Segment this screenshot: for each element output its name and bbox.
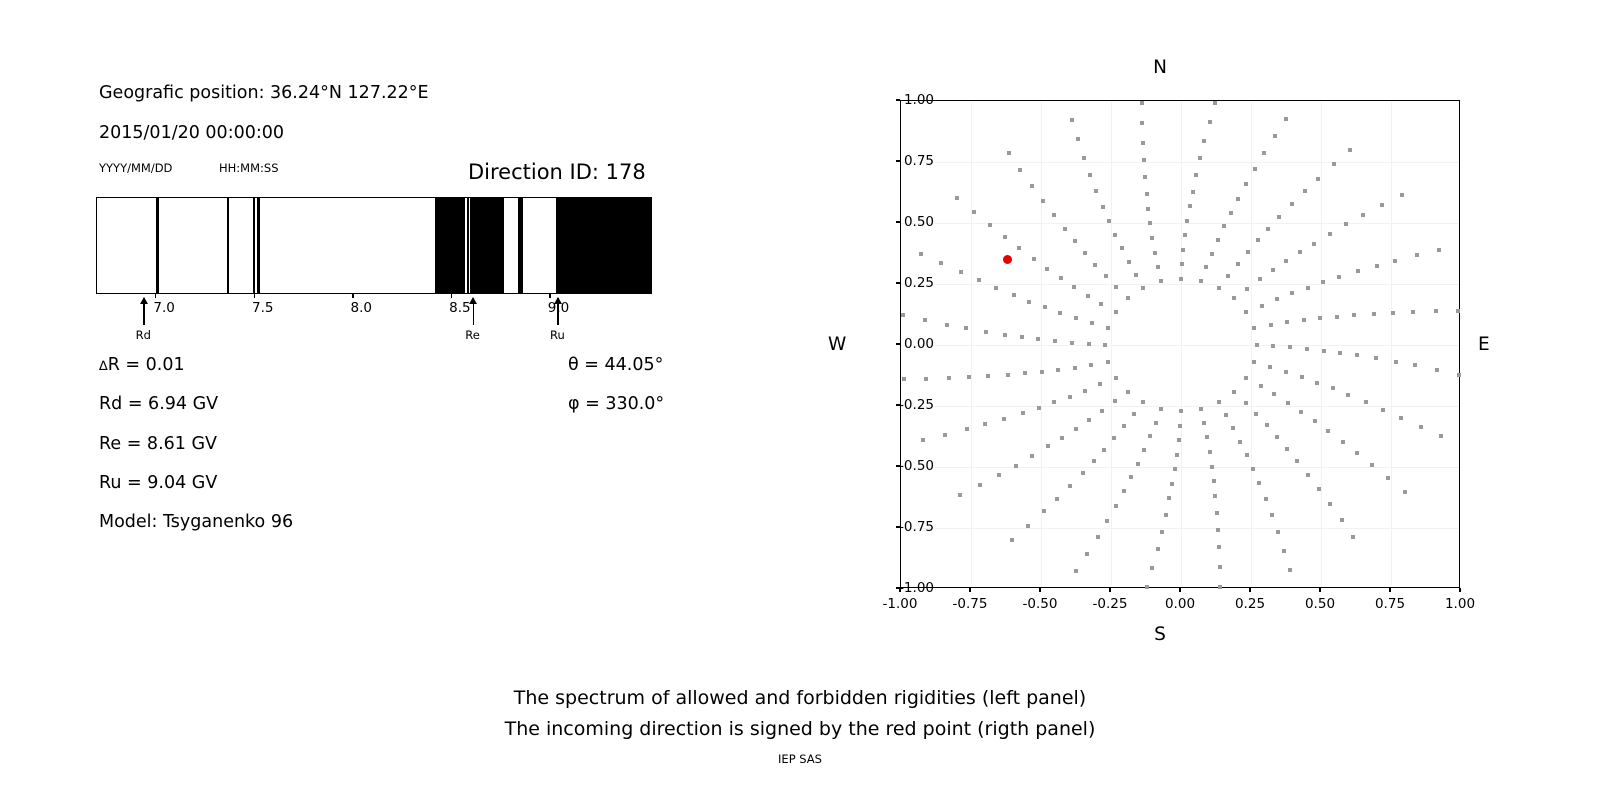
scatter-point bbox=[994, 286, 998, 290]
scatter-point bbox=[1141, 286, 1145, 290]
scatter-point bbox=[1170, 482, 1174, 486]
scatter-point bbox=[1160, 530, 1164, 534]
scatter-point bbox=[967, 375, 971, 379]
scatter-point bbox=[1036, 337, 1040, 341]
scatter-point bbox=[983, 422, 987, 426]
scatter-point bbox=[1053, 339, 1057, 343]
scatter-point bbox=[1100, 409, 1104, 413]
scatter-point bbox=[1185, 219, 1189, 223]
scatter-point bbox=[1213, 101, 1217, 105]
scatter-point bbox=[1299, 410, 1303, 414]
scatter-point bbox=[1112, 436, 1116, 440]
x-tick bbox=[1459, 588, 1460, 592]
scatter-point bbox=[1215, 511, 1219, 515]
scatter-point bbox=[1282, 549, 1286, 553]
scatter-point bbox=[1244, 401, 1248, 405]
param-ru: Ru = 9.04 GV bbox=[99, 473, 217, 493]
scatter-point bbox=[1132, 412, 1136, 416]
rigidity-tick bbox=[352, 294, 353, 298]
scatter-point bbox=[1153, 251, 1157, 255]
scatter-point bbox=[1415, 253, 1419, 257]
rigidity-marker-label: Ru bbox=[550, 328, 565, 342]
scatter-point bbox=[1374, 356, 1378, 360]
compass-north-label: N bbox=[1153, 57, 1167, 78]
scatter-point bbox=[1150, 236, 1154, 240]
scatter-point bbox=[1043, 305, 1047, 309]
figure-footer: IEP SAS bbox=[0, 752, 1600, 766]
left-panel: Geografic position: 36.24°N 127.22°E 201… bbox=[0, 0, 760, 660]
scatter-point bbox=[1102, 448, 1106, 452]
scatter-point bbox=[1150, 566, 1154, 570]
scatter-point bbox=[1344, 222, 1348, 226]
scatter-point bbox=[1052, 400, 1056, 404]
scatter-point bbox=[1142, 158, 1146, 162]
scatter-point bbox=[1245, 453, 1249, 457]
scatter-point bbox=[1173, 467, 1177, 471]
y-tick-label: -1.00 bbox=[899, 580, 934, 596]
forbidden-band bbox=[156, 198, 159, 293]
direction-id-label: Direction ID: 178 bbox=[468, 160, 646, 184]
scatter-point bbox=[1316, 177, 1320, 181]
scatter-point bbox=[1030, 184, 1034, 188]
scatter-point bbox=[1156, 547, 1160, 551]
scatter-point bbox=[1045, 267, 1049, 271]
scatter-point bbox=[1127, 260, 1131, 264]
scatter-point bbox=[1218, 585, 1222, 589]
time-format-hint: HH:MM:SS bbox=[219, 161, 279, 175]
scatter-point bbox=[1380, 203, 1384, 207]
scatter-point bbox=[1046, 444, 1050, 448]
scatter-point bbox=[1122, 424, 1126, 428]
y-tick-label: -0.25 bbox=[899, 397, 934, 413]
scatter-point bbox=[1271, 268, 1275, 272]
scatter-point bbox=[1256, 238, 1260, 242]
scatter-point bbox=[1167, 496, 1171, 500]
scatter-point bbox=[1285, 447, 1289, 451]
scatter-point bbox=[1056, 368, 1060, 372]
scatter-point bbox=[1205, 435, 1209, 439]
scatter-point bbox=[1284, 117, 1288, 121]
scatter-point bbox=[1259, 384, 1263, 388]
y-tick bbox=[896, 282, 900, 283]
scatter-point bbox=[901, 313, 905, 317]
scatter-point bbox=[1058, 311, 1062, 315]
rigidity-marker-label: Rd bbox=[136, 328, 151, 342]
scatter-point bbox=[1104, 274, 1108, 278]
rigidity-tick bbox=[451, 294, 452, 298]
scatter-point bbox=[977, 278, 981, 282]
scatter-point bbox=[1052, 213, 1056, 217]
y-tick-label: -0.75 bbox=[899, 519, 934, 535]
scatter-point bbox=[1199, 279, 1203, 283]
scatter-point bbox=[1216, 528, 1220, 532]
forbidden-band bbox=[556, 198, 652, 293]
y-tick-label: 0.75 bbox=[904, 153, 934, 169]
scatter-point bbox=[1252, 326, 1256, 330]
scatter-point bbox=[1400, 193, 1404, 197]
x-tick bbox=[1039, 588, 1040, 592]
scatter-point bbox=[1027, 300, 1031, 304]
date-format-hint: YYYY/MM/DD bbox=[99, 161, 172, 175]
rigidity-tick-label: 7.0 bbox=[153, 300, 174, 316]
scatter-point bbox=[1268, 365, 1272, 369]
scatter-point bbox=[959, 270, 963, 274]
scatter-point bbox=[1273, 134, 1277, 138]
y-tick bbox=[896, 99, 900, 100]
scatter-point bbox=[1208, 120, 1212, 124]
scatter-point bbox=[1326, 429, 1330, 433]
scatter-point bbox=[1372, 312, 1376, 316]
scatter-point bbox=[1399, 416, 1403, 420]
scatter-point bbox=[1181, 248, 1185, 252]
y-tick bbox=[896, 221, 900, 222]
scatter-point bbox=[1375, 264, 1379, 268]
arrow-up-icon bbox=[554, 297, 562, 304]
scatter-point bbox=[1290, 291, 1294, 295]
scatter-point bbox=[1251, 467, 1255, 471]
scatter-point bbox=[1245, 287, 1249, 291]
scatter-point bbox=[1093, 263, 1097, 267]
scatter-point bbox=[1164, 513, 1168, 517]
scatter-point bbox=[1318, 316, 1322, 320]
scatter-point bbox=[1179, 277, 1183, 281]
scatter-point bbox=[1286, 401, 1290, 405]
x-tick-label: -0.50 bbox=[1023, 596, 1058, 612]
rigidity-marker-label: Re bbox=[465, 328, 480, 342]
scatter-point bbox=[1063, 227, 1067, 231]
scatter-point bbox=[1222, 224, 1226, 228]
scatter-point bbox=[1364, 400, 1368, 404]
scatter-point bbox=[1253, 167, 1257, 171]
scatter-point bbox=[1352, 313, 1356, 317]
scatter-point bbox=[1264, 497, 1268, 501]
scatter-point bbox=[945, 323, 949, 327]
scatter-point bbox=[1114, 504, 1118, 508]
scatter-point bbox=[1010, 538, 1014, 542]
scatter-point bbox=[1302, 318, 1306, 322]
scatter-point bbox=[1356, 269, 1360, 273]
scatter-point bbox=[1391, 311, 1395, 315]
scatter-point bbox=[1012, 293, 1016, 297]
scatter-point bbox=[1413, 363, 1417, 367]
x-tick-label: 0.75 bbox=[1375, 596, 1405, 612]
scatter-point bbox=[1002, 417, 1006, 421]
scatter-point bbox=[1238, 440, 1242, 444]
scatter-point bbox=[923, 318, 927, 322]
rigidity-spectrum-bar bbox=[96, 197, 652, 294]
scatter-point bbox=[1107, 219, 1111, 223]
scatter-point bbox=[1271, 344, 1275, 348]
scatter-point bbox=[1244, 182, 1248, 186]
scatter-point bbox=[1085, 552, 1089, 556]
y-tick-label: 0.50 bbox=[904, 214, 934, 230]
scatter-point bbox=[1198, 156, 1202, 160]
scatter-point bbox=[902, 377, 906, 381]
scatter-point bbox=[1213, 494, 1217, 498]
param-re: Re = 8.61 GV bbox=[99, 434, 217, 454]
scatter-point bbox=[1403, 490, 1407, 494]
scatter-point bbox=[1068, 484, 1072, 488]
arrow-up-icon bbox=[469, 297, 477, 304]
scatter-point bbox=[1355, 353, 1359, 357]
scatter-point bbox=[1145, 585, 1149, 589]
compass-east-label: E bbox=[1478, 334, 1490, 355]
x-tick-label: 0.00 bbox=[1165, 596, 1195, 612]
x-tick bbox=[1179, 588, 1180, 592]
scatter-point bbox=[1159, 407, 1163, 411]
scatter-point bbox=[1284, 370, 1288, 374]
scatter-point bbox=[1083, 389, 1087, 393]
x-tick-label: -0.25 bbox=[1093, 596, 1128, 612]
x-tick bbox=[1389, 588, 1390, 592]
scatter-point bbox=[1136, 462, 1140, 466]
scatter-point bbox=[1288, 568, 1292, 572]
scatter-point bbox=[1042, 509, 1046, 513]
scatter-point bbox=[1224, 413, 1228, 417]
scatter-point bbox=[997, 473, 1001, 477]
scatter-point bbox=[1298, 250, 1302, 254]
compass-south-label: S bbox=[1154, 624, 1166, 645]
scatter-point bbox=[1381, 408, 1385, 412]
scatter-point bbox=[1145, 192, 1149, 196]
x-tick bbox=[969, 588, 970, 592]
scatter-point bbox=[1134, 273, 1138, 277]
scatter-point bbox=[978, 483, 982, 487]
x-tick bbox=[1249, 588, 1250, 592]
scatter-point bbox=[1340, 518, 1344, 522]
scatter-point bbox=[1179, 409, 1183, 413]
scatter-point bbox=[1394, 360, 1398, 364]
scatter-point bbox=[1232, 296, 1236, 300]
scatter-point bbox=[1255, 343, 1259, 347]
scatter-point bbox=[919, 252, 923, 256]
scatter-point bbox=[1070, 118, 1074, 122]
scatter-point bbox=[1178, 424, 1182, 428]
polar-scatter-panel: N S E W 1.000.750.500.250.00-0.25-0.50-0… bbox=[820, 40, 1580, 660]
forbidden-band bbox=[470, 198, 504, 293]
scatter-point bbox=[1041, 199, 1045, 203]
scatter-point bbox=[1040, 370, 1044, 374]
scatter-point bbox=[1074, 316, 1078, 320]
param-model: Model: Tsyganenko 96 bbox=[99, 512, 293, 532]
scatter-point bbox=[1303, 189, 1307, 193]
scatter-point bbox=[958, 493, 962, 497]
scatter-point bbox=[1332, 162, 1336, 166]
y-tick-label: 0.00 bbox=[904, 336, 934, 352]
scatter-point bbox=[1026, 524, 1030, 528]
rigidity-tick-label: 8.0 bbox=[351, 300, 372, 316]
scatter-point bbox=[1092, 459, 1096, 463]
param-theta: θ = 44.05° bbox=[568, 355, 663, 375]
scatter-point bbox=[1331, 386, 1335, 390]
scatter-point bbox=[1006, 373, 1010, 377]
scatter-point bbox=[1434, 309, 1438, 313]
figure-caption: The spectrum of allowed and forbidden ri… bbox=[0, 683, 1600, 745]
scatter-point bbox=[964, 326, 968, 330]
arrow-up-icon bbox=[140, 297, 148, 304]
scatter-layer bbox=[901, 101, 1459, 587]
caption-line-2: The incoming direction is signed by the … bbox=[0, 714, 1600, 745]
scatter-point bbox=[1269, 323, 1273, 327]
scatter-point bbox=[1096, 535, 1100, 539]
rigidity-tick bbox=[549, 294, 550, 298]
x-tick-label: 0.50 bbox=[1305, 596, 1335, 612]
scatter-point bbox=[1142, 448, 1146, 452]
scatter-point bbox=[1202, 139, 1206, 143]
scatter-point bbox=[1177, 438, 1181, 442]
scatter-point bbox=[1270, 513, 1274, 517]
scatter-point bbox=[1254, 412, 1258, 416]
scatter-point bbox=[1086, 294, 1090, 298]
y-tick-label: -0.50 bbox=[899, 458, 934, 474]
x-tick-label: -0.75 bbox=[953, 596, 988, 612]
forbidden-band bbox=[435, 198, 465, 293]
scatter-point bbox=[1275, 435, 1279, 439]
forbidden-band bbox=[253, 198, 255, 293]
scatter-point bbox=[1129, 475, 1133, 479]
scatter-point bbox=[1076, 137, 1080, 141]
rigidity-axis: 7.07.58.08.59.0 bbox=[96, 294, 652, 295]
scatter-point bbox=[1456, 309, 1460, 313]
scatter-point bbox=[1003, 333, 1007, 337]
scatter-point bbox=[1212, 479, 1216, 483]
scatter-point bbox=[1143, 175, 1147, 179]
scatter-point bbox=[1014, 464, 1018, 468]
scatter-point bbox=[1272, 392, 1276, 396]
scatter-point bbox=[1140, 101, 1144, 105]
y-tick-label: 1.00 bbox=[904, 92, 934, 108]
scatter-point bbox=[1094, 189, 1098, 193]
scatter-point bbox=[1154, 421, 1158, 425]
scatter-point bbox=[1258, 277, 1262, 281]
scatter-point bbox=[947, 376, 951, 380]
scatter-point bbox=[1276, 530, 1280, 534]
scatter-point bbox=[1059, 276, 1063, 280]
scatter-point bbox=[921, 438, 925, 442]
scatter-point bbox=[1337, 275, 1341, 279]
scatter-point bbox=[1081, 471, 1085, 475]
scatter-point bbox=[1106, 326, 1110, 330]
scatter-point bbox=[1217, 545, 1221, 549]
scatter-point bbox=[1068, 395, 1072, 399]
scatter-point bbox=[1338, 351, 1342, 355]
scatter-point bbox=[1210, 252, 1214, 256]
scatter-point bbox=[1439, 434, 1443, 438]
scatter-point bbox=[1306, 286, 1310, 290]
scatter-point bbox=[1411, 310, 1415, 314]
datetime-label: 2015/01/20 00:00:00 bbox=[99, 123, 284, 143]
scatter-point bbox=[1341, 440, 1345, 444]
scatter-point bbox=[1103, 343, 1107, 347]
scatter-point bbox=[1321, 280, 1325, 284]
scatter-point bbox=[1070, 341, 1074, 345]
scatter-point bbox=[1087, 418, 1091, 422]
scatter-point bbox=[1114, 285, 1118, 289]
y-tick bbox=[896, 343, 900, 344]
scatter-point bbox=[1226, 274, 1230, 278]
scatter-point bbox=[1328, 502, 1332, 506]
scatter-point bbox=[1202, 421, 1206, 425]
scatter-point bbox=[1055, 497, 1059, 501]
scatter-point bbox=[1229, 211, 1233, 215]
scatter-point bbox=[1183, 233, 1187, 237]
scatter-point bbox=[1346, 393, 1350, 397]
x-tick bbox=[1109, 588, 1110, 592]
scatter-point bbox=[1074, 427, 1078, 431]
scatter-point bbox=[1087, 342, 1091, 346]
scatter-point bbox=[1148, 434, 1152, 438]
scatter-point bbox=[1437, 248, 1441, 252]
scatter-point bbox=[1007, 151, 1011, 155]
scatter-point bbox=[1023, 371, 1027, 375]
scatter-point bbox=[988, 223, 992, 227]
scatter-point bbox=[1037, 406, 1041, 410]
scatter-point bbox=[1266, 227, 1270, 231]
scatter-point bbox=[1082, 156, 1086, 160]
scatter-point bbox=[1288, 345, 1292, 349]
scatter-point bbox=[1003, 235, 1007, 239]
scatter-point bbox=[943, 433, 947, 437]
scatter-point bbox=[984, 330, 988, 334]
forbidden-band bbox=[257, 198, 260, 293]
x-tick-label: 0.25 bbox=[1235, 596, 1265, 612]
scatter-point bbox=[1199, 407, 1203, 411]
scatter-point bbox=[1141, 141, 1145, 145]
param-rd: Rd = 6.94 GV bbox=[99, 394, 218, 414]
forbidden-band bbox=[467, 198, 469, 293]
scatter-point bbox=[1216, 238, 1220, 242]
scatter-point bbox=[1315, 381, 1319, 385]
scatter-point bbox=[1208, 450, 1212, 454]
scatter-point bbox=[1105, 519, 1109, 523]
scatter-point bbox=[1317, 487, 1321, 491]
scatter-point bbox=[1217, 400, 1221, 404]
compass-west-label: W bbox=[828, 334, 846, 355]
plot-frame bbox=[900, 100, 1460, 588]
scatter-point bbox=[1175, 453, 1179, 457]
scatter-point bbox=[1098, 382, 1102, 386]
scatter-point bbox=[1313, 419, 1317, 423]
scatter-point bbox=[1156, 265, 1160, 269]
scatter-point bbox=[1030, 454, 1034, 458]
scatter-point bbox=[1252, 360, 1256, 364]
scatter-point bbox=[1060, 436, 1064, 440]
scatter-point bbox=[1020, 335, 1024, 339]
scatter-point bbox=[1032, 257, 1036, 261]
scatter-point bbox=[1072, 285, 1076, 289]
rigidity-tick bbox=[155, 294, 156, 298]
scatter-point bbox=[1017, 246, 1021, 250]
scatter-point bbox=[1290, 202, 1294, 206]
scatter-point bbox=[1232, 390, 1236, 394]
scatter-point bbox=[1322, 349, 1326, 353]
scatter-point bbox=[972, 210, 976, 214]
scatter-point bbox=[1148, 221, 1152, 225]
rigidity-tick bbox=[254, 294, 255, 298]
scatter-point bbox=[1257, 481, 1261, 485]
x-tick-label: -1.00 bbox=[883, 596, 918, 612]
scatter-point bbox=[1435, 368, 1439, 372]
y-tick bbox=[896, 160, 900, 161]
scatter-point bbox=[1210, 465, 1214, 469]
scatter-point bbox=[1090, 321, 1094, 325]
scatter-point bbox=[1328, 232, 1332, 236]
scatter-point bbox=[1099, 302, 1103, 306]
caption-line-1: The spectrum of allowed and forbidden ri… bbox=[0, 683, 1600, 714]
scatter-point bbox=[1236, 197, 1240, 201]
geographic-position-label: Geografic position: 36.24°N 127.22°E bbox=[99, 83, 429, 103]
scatter-point bbox=[1246, 250, 1250, 254]
